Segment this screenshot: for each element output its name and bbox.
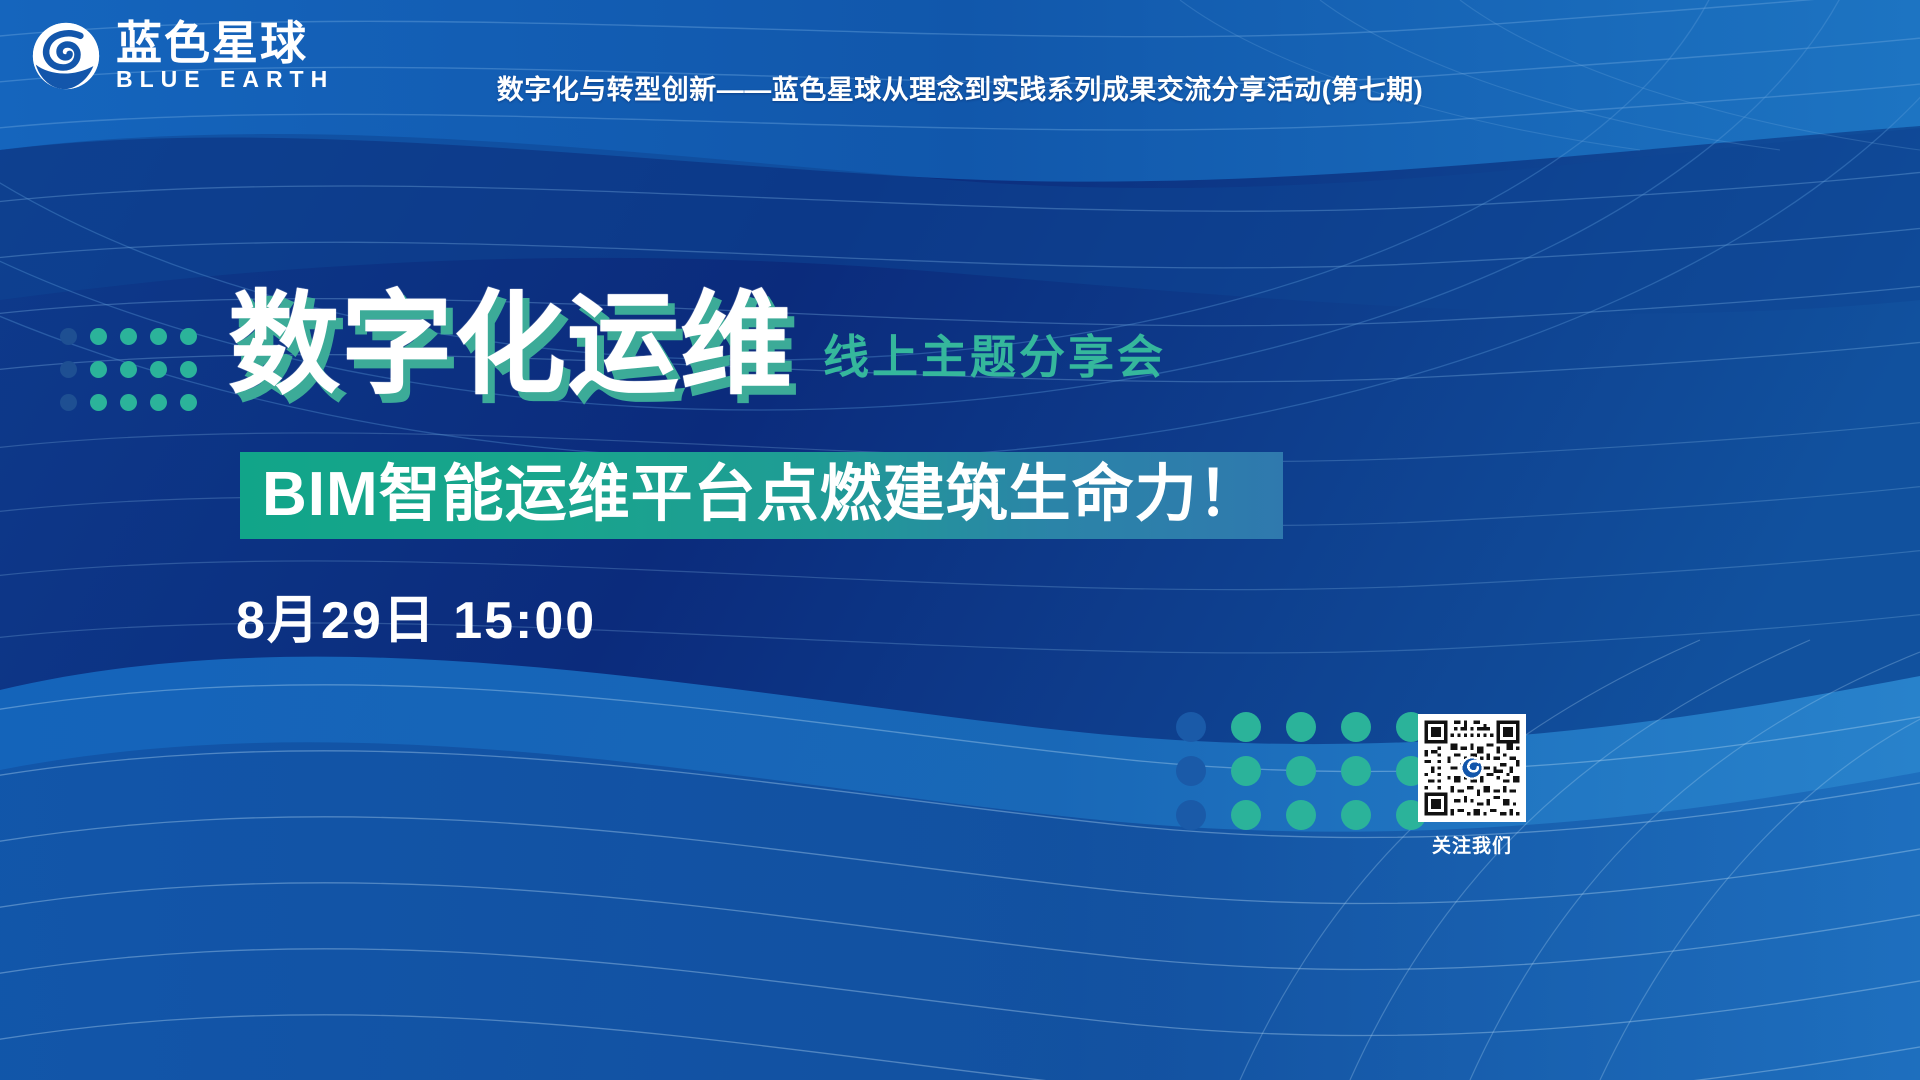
follow-us-label: 关注我们 xyxy=(1418,831,1526,858)
hero-highlight-band: BIM智能运维平台点燃建筑生命力！ xyxy=(240,452,1283,539)
brand-name-cn: 蓝色星球 xyxy=(116,20,334,67)
hero-sub-title: 线上主题分享会 xyxy=(823,321,1166,401)
event-series-title: 数字化与转型创新——蓝色星球从理念到实践系列成果交流分享活动(第七期) xyxy=(0,68,1920,107)
decorative-dot-grid-left xyxy=(60,328,210,427)
qr-code-icon[interactable] xyxy=(1418,714,1526,822)
follow-us-block: 关注我们 xyxy=(1418,714,1526,858)
hero-title-row: 数字化运维 线上主题分享会 xyxy=(228,289,1166,401)
hero-band-text: BIM智能运维平台点燃建筑生命力！ xyxy=(262,463,1261,526)
decorative-dot-grid-right xyxy=(1176,712,1451,844)
background-wave-pattern xyxy=(0,0,1920,1080)
event-datetime: 8月29日 15:00 xyxy=(236,578,596,653)
promo-banner: 蓝色星球 BLUE EARTH 数字化与转型创新——蓝色星球从理念到实践系列成果… xyxy=(0,0,1920,1080)
hero-main-title: 数字化运维 xyxy=(228,289,793,401)
